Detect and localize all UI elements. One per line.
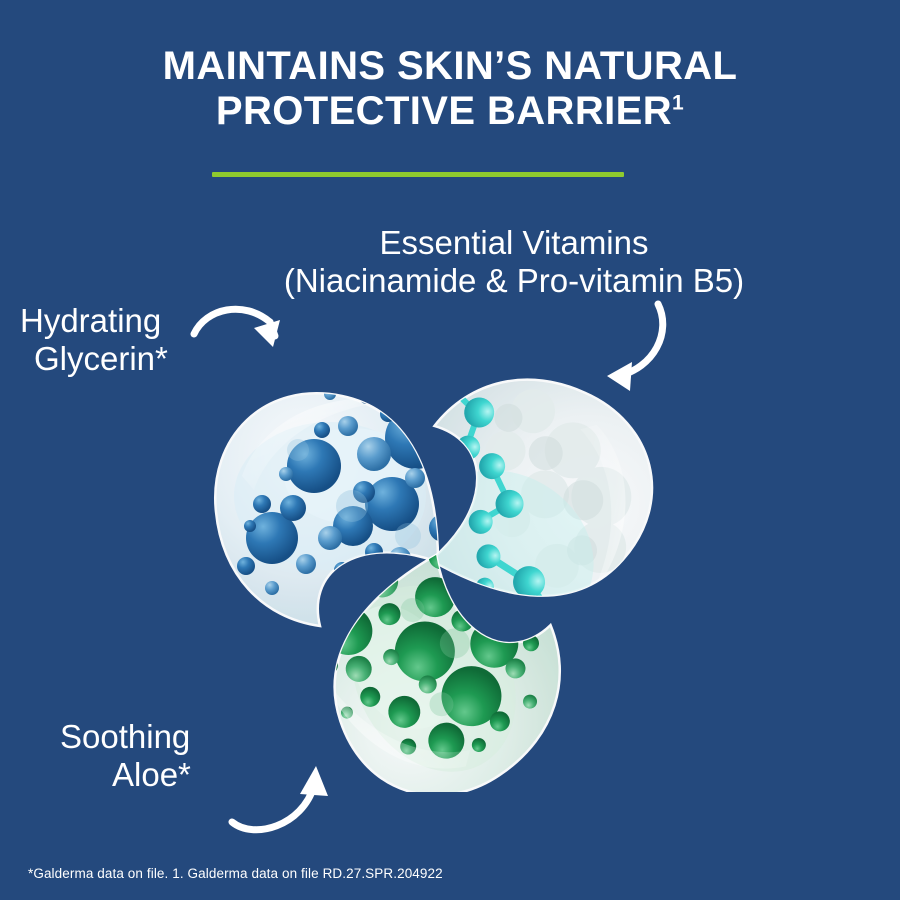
page-title: MAINTAINS SKIN’S NATURAL PROTECTIVE BARR… bbox=[0, 44, 900, 134]
headline-line-1: MAINTAINS SKIN’S NATURAL bbox=[0, 44, 900, 89]
triskelion-ingredient-diagram bbox=[202, 326, 668, 792]
headline-line-2-text: PROTECTIVE BARRIER bbox=[216, 89, 672, 133]
headline-line-2: PROTECTIVE BARRIER1 bbox=[0, 89, 900, 134]
callout-vitamins-line-2: (Niacinamide & Pro-vitamin B5) bbox=[0, 262, 900, 300]
headline-divider bbox=[212, 172, 624, 177]
footnote: *Galderma data on file. 1. Galderma data… bbox=[28, 866, 443, 881]
headline-footnote-marker: 1 bbox=[672, 92, 684, 115]
callout-essential-vitamins: Essential Vitamins (Niacinamide & Pro-vi… bbox=[0, 224, 900, 301]
callout-vitamins-line-1: Essential Vitamins bbox=[0, 224, 900, 262]
